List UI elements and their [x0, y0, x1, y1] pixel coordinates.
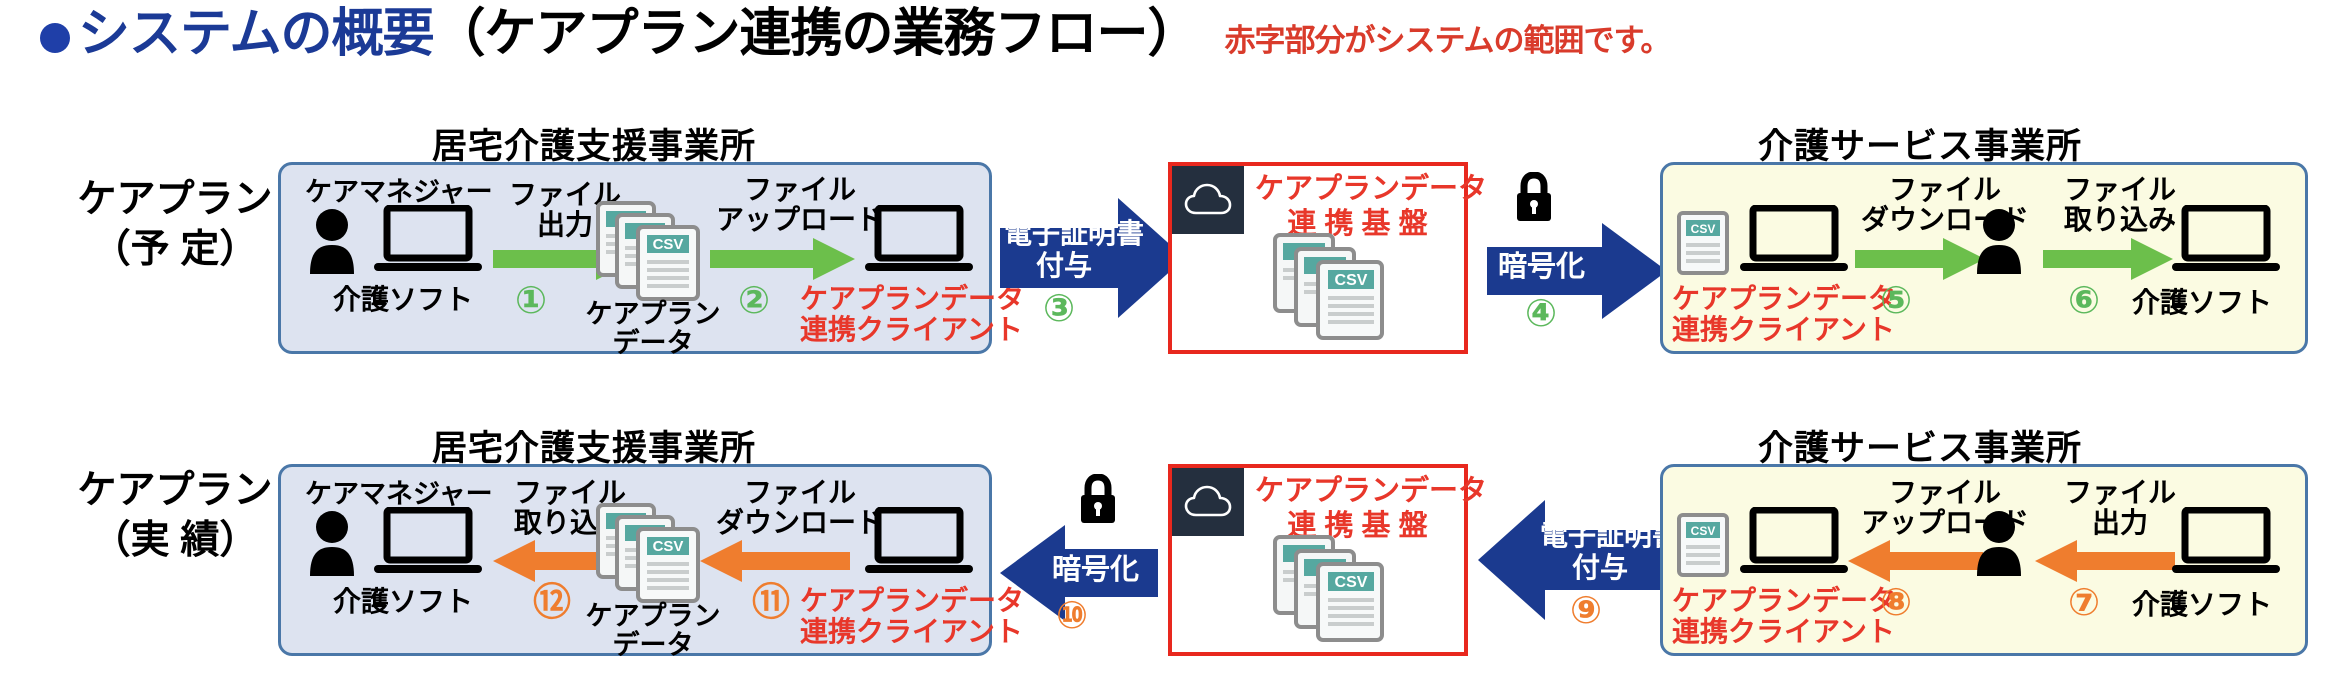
laptop-icon-software-left-row2 [374, 507, 482, 579]
step-number-11-row2: ⑪ [752, 584, 790, 622]
csv-stack-icon-platform-row2: CSV [1272, 534, 1390, 644]
transfer-label-10-row2: 暗号化 [1052, 555, 1139, 586]
step-number-5-row1: ⑤ [1880, 282, 1912, 320]
transfer-label-9-row2-line2: 付与 [1540, 552, 1660, 584]
data-label-left-row1: ケアプラン データ [578, 300, 728, 358]
svg-text:CSV: CSV [1691, 222, 1716, 236]
csv-stack-icon-left-row2: CSV [595, 502, 705, 604]
client-label-right-row1-line2: 連携クライアント [1672, 314, 1896, 345]
diagram-canvas: システムの概要（ケアプラン連携の業務フロー） 赤字部分がシステムの範囲です。 ケ… [0, 0, 2338, 681]
laptop-icon-software-right-row2 [2172, 507, 2280, 579]
step-label-5-row1-line1: ファイル [1845, 175, 2045, 205]
arrow-step-11-row2 [700, 540, 850, 582]
step-number-8-row2: ⑧ [1880, 584, 1912, 622]
transfer-label-9-row2: 電子証明書 付与 [1540, 520, 1660, 584]
transfer-number-3-row1: ③ [1043, 290, 1075, 328]
client-label-right-row2-line2: 連携クライアント [1672, 616, 1896, 647]
csv-stack-icon-left-row1: CSV [595, 200, 705, 302]
page-header: システムの概要（ケアプラン連携の業務フロー） 赤字部分がシステムの範囲です。 [40, 8, 1670, 60]
step-number-2-row1: ② [738, 282, 770, 320]
page-title-part2: （ケアプラン連携の業務フロー） [433, 5, 1198, 63]
software-label-left-row2: 介護ソフト [333, 587, 473, 617]
csv-doc-icon-right-row1: CSV [1676, 210, 1730, 276]
step-number-7-row2: ⑦ [2068, 584, 2100, 622]
software-label-right-row2: 介護ソフト [2132, 590, 2272, 620]
client-label-left-row2: ケアプランデータ 連携クライアント [800, 585, 1024, 648]
page-title: システムの概要（ケアプラン連携の業務フロー） [40, 8, 1198, 60]
arrow-step-7-row2 [2035, 540, 2175, 582]
transfer-label-3-row1: 電子証明書 付与 [1004, 218, 1124, 282]
laptop-icon-client-right-row2 [1740, 507, 1848, 579]
person-icon [306, 208, 358, 274]
transfer-number-10-row2: ⑩ [1056, 597, 1088, 635]
step-label-2-row1-line1: ファイル [700, 175, 900, 205]
platform-name-row2-line1: ケアプランデータ [1255, 474, 1460, 509]
svg-text:CSV: CSV [653, 236, 684, 253]
laptop-icon-client-right-row1 [1740, 205, 1848, 277]
svg-text:CSV: CSV [1335, 574, 1368, 591]
arrow-step-5-row1 [1855, 238, 1985, 280]
step-number-6-row1: ⑥ [2068, 282, 2100, 320]
client-label-left-row2-line1: ケアプランデータ [800, 585, 1024, 616]
platform-name-row1-line1: ケアプランデータ [1255, 172, 1460, 207]
data-label-left-row1-line2: データ [578, 329, 728, 358]
step-label-11-row2-line1: ファイル [700, 478, 900, 508]
csv-stack-icon-platform-row1: CSV [1272, 232, 1390, 342]
software-label-left-row1: 介護ソフト [333, 285, 473, 315]
cloud-chip-row2 [1172, 468, 1244, 536]
transfer-label-9-row2-line1: 電子証明書 [1540, 520, 1660, 552]
cloud-icon-row2 [1184, 485, 1232, 519]
client-label-right-row1: ケアプランデータ 連携クライアント [1672, 283, 1896, 346]
laptop-icon-client-left-row1 [865, 205, 973, 277]
data-label-left-row1-line1: ケアプラン [578, 300, 728, 329]
lock-icon-row1 [1512, 172, 1556, 224]
person-icon-left-row2 [306, 510, 358, 576]
laptop-icon-software-left-row1 [374, 205, 482, 277]
cloud-chip-row1 [1172, 166, 1244, 234]
page-subtitle: 赤字部分がシステムの範囲です。 [1224, 15, 1670, 60]
row-label-result-line1: ケアプラン [60, 466, 290, 516]
client-label-left-row1: ケアプランデータ 連携クライアント [800, 283, 1024, 346]
row-label-result: ケアプラン （実 績） [60, 466, 290, 566]
svg-text:CSV: CSV [653, 538, 684, 555]
step-number-1-row1: ① [515, 282, 547, 320]
software-label-right-row1: 介護ソフト [2132, 288, 2272, 318]
transfer-number-4-row1: ④ [1525, 295, 1557, 333]
person-icon-right-row2 [1973, 510, 2025, 576]
page-title-part1: システムの概要 [78, 5, 433, 63]
transfer-label-3-row1-line2: 付与 [1004, 250, 1124, 282]
laptop-icon-software-right-row1 [2172, 205, 2280, 277]
step-number-12-row2: ⑫ [533, 584, 571, 622]
lock-icon-row2 [1076, 474, 1120, 526]
data-label-left-row2-line1: ケアプラン [578, 602, 728, 631]
cloud-icon-row1 [1184, 183, 1232, 217]
client-label-left-row1-line1: ケアプランデータ [800, 283, 1024, 314]
arrow-step-6-row1 [2043, 238, 2173, 280]
arrow-step-2-row1 [710, 238, 855, 280]
actor-label-left-row1: ケアマネジャー [305, 178, 493, 207]
transfer-label-4-row1: 暗号化 [1498, 252, 1585, 283]
client-label-left-row2-line2: 連携クライアント [800, 616, 1024, 647]
row-label-result-line2: （実 績） [60, 516, 290, 566]
transfer-label-3-row1-line1: 電子証明書 [1004, 218, 1124, 250]
client-label-right-row2-line1: ケアプランデータ [1672, 585, 1896, 616]
svg-text:CSV: CSV [1691, 524, 1716, 538]
client-label-right-row2: ケアプランデータ 連携クライアント [1672, 585, 1896, 648]
laptop-icon-client-left-row2 [865, 507, 973, 579]
step-label-7-row2-line1: ファイル [2040, 478, 2200, 508]
bullet-icon [40, 23, 70, 53]
data-label-left-row2: ケアプラン データ [578, 602, 728, 660]
csv-doc-icon-right-row2: CSV [1676, 512, 1730, 578]
data-label-left-row2-line2: データ [578, 631, 728, 660]
step-label-6-row1-line1: ファイル [2040, 175, 2200, 205]
svg-text:CSV: CSV [1335, 272, 1368, 289]
transfer-number-9-row2: ⑨ [1570, 592, 1602, 630]
arrow-step-8-row2 [1848, 540, 1983, 582]
step-label-8-row2-line1: ファイル [1845, 478, 2045, 508]
client-label-right-row1-line1: ケアプランデータ [1672, 283, 1896, 314]
row-label-plan-line2: （予 定） [60, 225, 290, 275]
person-icon-right-row1 [1973, 208, 2025, 274]
row-label-plan-line1: ケアプラン [60, 175, 290, 225]
client-label-left-row1-line2: 連携クライアント [800, 314, 1024, 345]
row-label-plan: ケアプラン （予 定） [60, 175, 290, 275]
actor-label-left-row2: ケアマネジャー [305, 480, 493, 509]
